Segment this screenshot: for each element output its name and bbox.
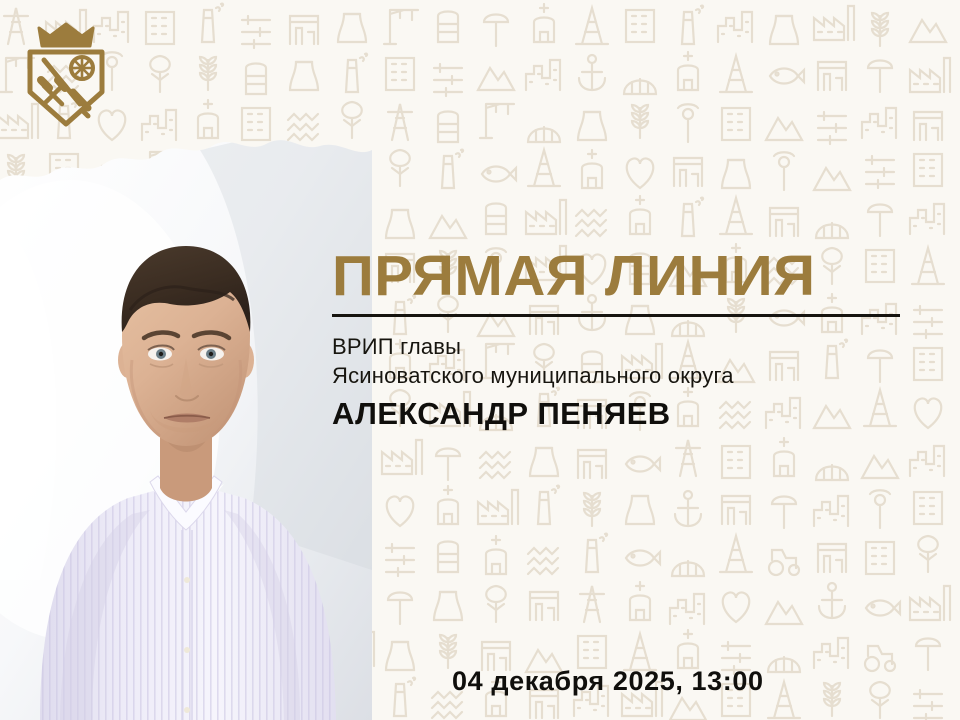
coat-of-arms-icon [18,14,114,136]
announcement-text-block: ПРЯМАЯ ЛИНИЯ ВРИП главы Ясиноватского му… [332,248,912,432]
subtitle-group: ВРИП главы Ясиноватского муниципального … [332,332,912,390]
portrait-backdrop [0,110,372,720]
speaker-name: АЛЕКСАНДР ПЕНЯЕВ [332,396,912,432]
subtitle-line-district: Ясиноватского муниципального округа [332,361,912,390]
speaker-portrait-block [0,110,372,720]
title-divider [332,314,900,317]
broadcast-announcement-poster: ПРЯМАЯ ЛИНИЯ ВРИП главы Ясиноватского му… [0,0,960,720]
event-datetime: 04 декабря 2025, 13:00 [452,666,764,697]
page-title: ПРЯМАЯ ЛИНИЯ [332,248,924,305]
subtitle-line-role: ВРИП главы [332,332,912,361]
